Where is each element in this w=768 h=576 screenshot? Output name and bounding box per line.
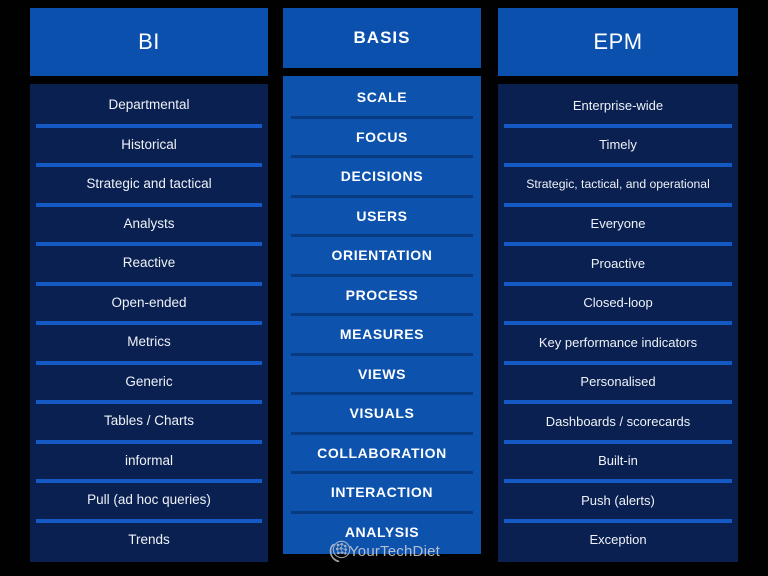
list-item: FOCUS — [283, 118, 481, 158]
list-item: Historical — [30, 126, 268, 166]
list-item: Everyone — [498, 205, 738, 245]
list-item: Dashboards / scorecards — [498, 402, 738, 442]
list-item: Tables / Charts — [30, 402, 268, 442]
watermark-text: YourTechDiet — [349, 543, 440, 560]
list-item: Departmental — [30, 86, 268, 126]
list-item: DECISIONS — [283, 157, 481, 197]
list-item: Personalised — [498, 363, 738, 403]
row-label: MEASURES — [340, 327, 424, 342]
list-item: VISUALS — [283, 394, 481, 434]
row-label: Metrics — [127, 335, 171, 350]
row-label: FOCUS — [356, 130, 408, 145]
list-item: Timely — [498, 126, 738, 166]
row-label: Pull (ad hoc queries) — [87, 493, 211, 508]
row-label: Dashboards / scorecards — [546, 415, 691, 429]
list-item: Closed-loop — [498, 284, 738, 324]
row-label: VISUALS — [350, 406, 415, 421]
list-item: USERS — [283, 197, 481, 237]
column-header-bi: BI — [30, 8, 268, 76]
list-item: INTERACTION — [283, 473, 481, 513]
row-label: Built-in — [598, 454, 638, 468]
column-body-bi: Departmental Historical Strategic and ta… — [30, 84, 268, 562]
list-item: COLLABORATION — [283, 434, 481, 474]
row-label: INTERACTION — [331, 485, 433, 500]
watermark: YourTechDiet — [0, 534, 768, 568]
column-body-epm: Enterprise-wide Timely Strategic, tactic… — [498, 84, 738, 562]
column-header-basis: BASIS — [283, 8, 481, 68]
row-label: Historical — [121, 138, 177, 153]
list-item: VIEWS — [283, 355, 481, 395]
list-item: Built-in — [498, 442, 738, 482]
column-header-epm: EPM — [498, 8, 738, 76]
row-label: Analysts — [123, 217, 174, 232]
row-label: COLLABORATION — [317, 446, 447, 461]
row-label: DECISIONS — [341, 169, 423, 184]
list-item: Strategic, tactical, and operational — [498, 165, 738, 205]
list-item: Metrics — [30, 323, 268, 363]
list-item: Reactive — [30, 244, 268, 284]
list-item: Open-ended — [30, 284, 268, 324]
row-label: Open-ended — [111, 296, 186, 311]
row-label: Everyone — [591, 217, 646, 231]
row-label: informal — [125, 454, 173, 469]
row-label: Key performance indicators — [539, 336, 697, 350]
comparison-slide: BI Departmental Historical Strategic and… — [0, 0, 768, 576]
column-basis: BASIS SCALE FOCUS DECISIONS USERS ORIENT… — [283, 0, 481, 554]
list-item: MEASURES — [283, 315, 481, 355]
row-label: Generic — [125, 375, 172, 390]
row-label: Push (alerts) — [581, 494, 655, 508]
row-label: Closed-loop — [583, 296, 652, 310]
row-label: Tables / Charts — [104, 414, 194, 429]
list-item: PROCESS — [283, 276, 481, 316]
column-title-basis: BASIS — [354, 28, 411, 48]
row-label: Strategic, tactical, and operational — [526, 178, 710, 191]
row-label: Enterprise-wide — [573, 99, 663, 113]
list-item: Proactive — [498, 244, 738, 284]
column-title-epm: EPM — [593, 29, 642, 55]
list-item: Push (alerts) — [498, 481, 738, 521]
column-body-basis: SCALE FOCUS DECISIONS USERS ORIENTATION … — [283, 76, 481, 554]
list-item: Strategic and tactical — [30, 165, 268, 205]
row-label: SCALE — [357, 90, 407, 105]
row-label: Strategic and tactical — [86, 177, 211, 192]
row-label: ORIENTATION — [332, 248, 433, 263]
column-bi: BI Departmental Historical Strategic and… — [30, 0, 268, 562]
list-item: SCALE — [283, 78, 481, 118]
row-label: PROCESS — [346, 288, 419, 303]
column-title-bi: BI — [138, 29, 160, 55]
column-epm: EPM Enterprise-wide Timely Strategic, ta… — [498, 0, 738, 562]
row-label: USERS — [356, 209, 407, 224]
row-label: Departmental — [108, 98, 189, 113]
list-item: Analysts — [30, 205, 268, 245]
row-label: Personalised — [580, 375, 655, 389]
list-item: Generic — [30, 363, 268, 403]
list-item: informal — [30, 442, 268, 482]
list-item: Enterprise-wide — [498, 86, 738, 126]
row-label: Reactive — [123, 256, 176, 271]
comparison-columns: BI Departmental Historical Strategic and… — [0, 0, 768, 534]
list-item: Key performance indicators — [498, 323, 738, 363]
list-item: ORIENTATION — [283, 236, 481, 276]
row-label: Proactive — [591, 257, 645, 271]
row-label: VIEWS — [358, 367, 406, 382]
row-label: Timely — [599, 138, 637, 152]
list-item: Pull (ad hoc queries) — [30, 481, 268, 521]
